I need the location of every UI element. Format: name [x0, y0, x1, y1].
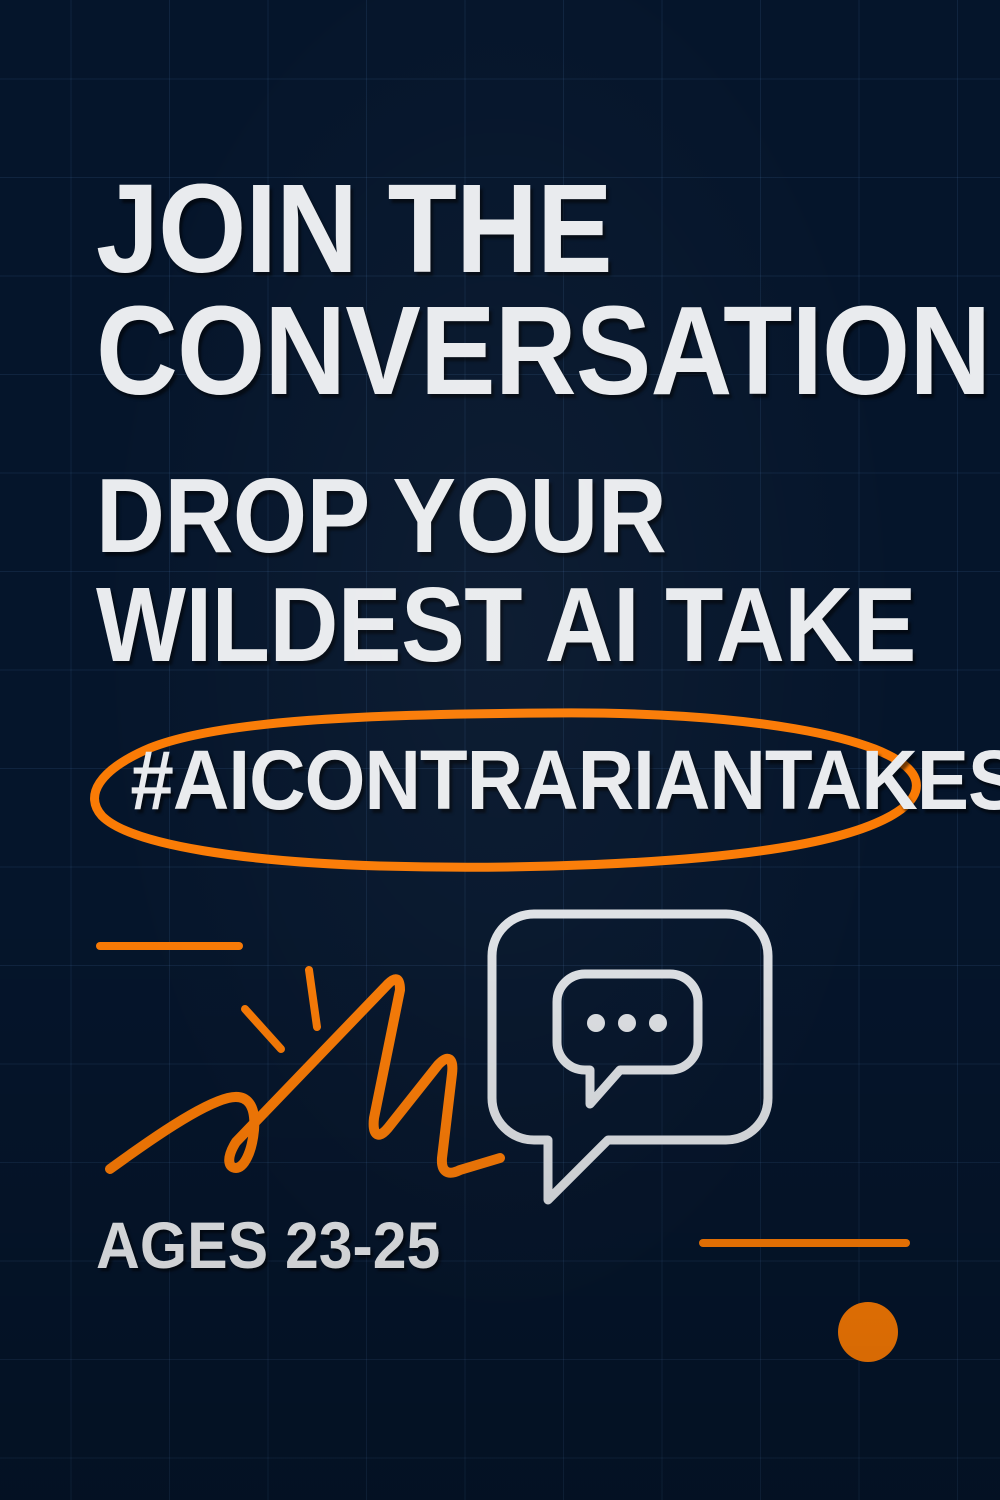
- headline-line-2: CONVERSATION: [96, 290, 870, 412]
- scribble-doodle-icon: [110, 979, 500, 1172]
- chat-dot-3: [649, 1014, 667, 1032]
- chat-dot-2: [618, 1014, 636, 1032]
- promo-poster: JOIN THE CONVERSATION DROP YOUR WILDEST …: [0, 0, 1000, 1500]
- orange-dot: [838, 1302, 898, 1362]
- hashtag-group: #AICONTRARIANTAKES: [80, 700, 930, 882]
- chat-dot-1: [587, 1014, 605, 1032]
- subheadline: DROP YOUR WILDEST AI TAKE: [96, 462, 976, 680]
- spark-ticks-icon: [245, 970, 317, 1049]
- subheadline-line-2: WILDEST AI TAKE: [96, 571, 888, 680]
- chat-bubble-icon: [492, 914, 768, 1200]
- age-label: AGES 23-25: [96, 1212, 440, 1278]
- hashtag-label: #AICONTRARIANTAKES: [130, 738, 883, 822]
- headline-line-1: JOIN THE: [96, 168, 870, 290]
- headline: JOIN THE CONVERSATION: [96, 168, 956, 412]
- subheadline-line-1: DROP YOUR: [96, 462, 888, 571]
